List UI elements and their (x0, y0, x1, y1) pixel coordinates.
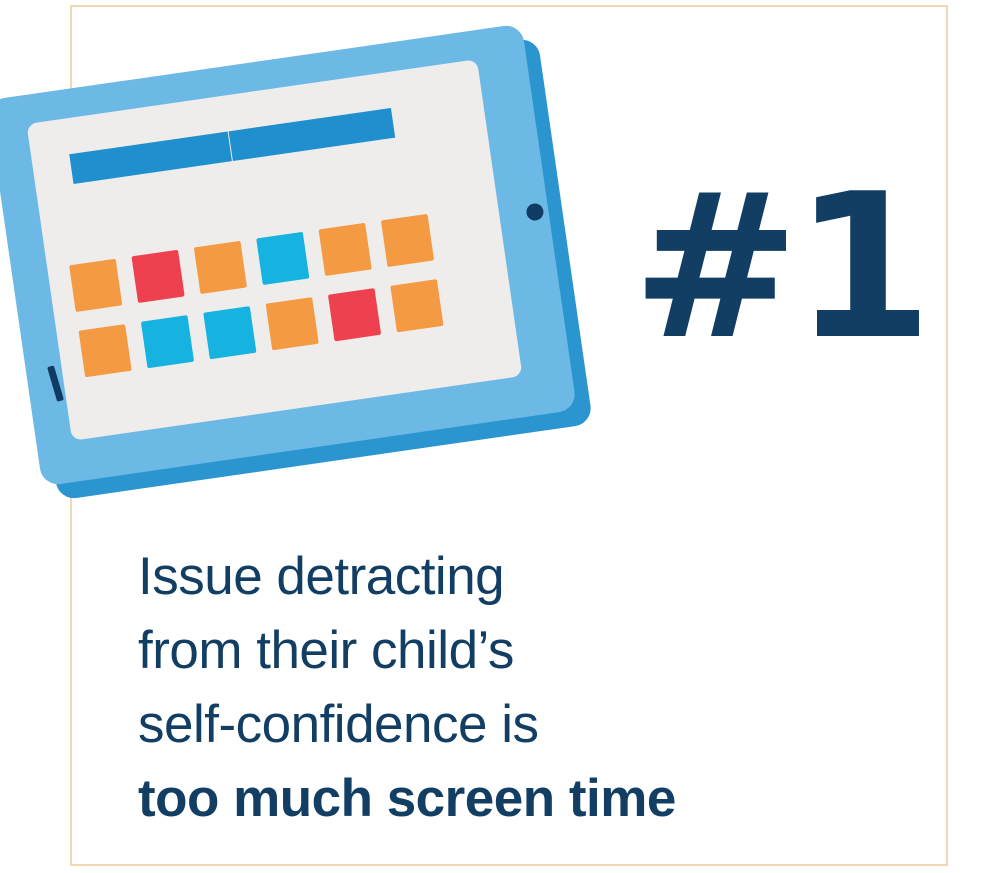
rank-number: #1 (632, 168, 927, 368)
app-tile[interactable] (203, 306, 256, 359)
app-tile[interactable] (141, 315, 194, 368)
tablet-screen (27, 59, 523, 441)
app-tile[interactable] (381, 214, 434, 267)
caption-line-emphasis: too much screen time (138, 762, 838, 836)
app-tile[interactable] (194, 241, 247, 294)
caption-text: Issue detracting from their child’s self… (138, 540, 838, 836)
app-tile[interactable] (319, 223, 372, 276)
screen-content (27, 59, 523, 441)
caption-line: self-confidence is (138, 688, 838, 762)
caption-line: Issue detracting (138, 540, 838, 614)
app-tile[interactable] (266, 297, 319, 350)
app-tile[interactable] (328, 288, 381, 341)
screen-banner-segment-right (229, 108, 396, 161)
tablet-camera-icon (525, 202, 544, 221)
tablet-illustration (0, 52, 600, 482)
screen-banner-segment-left (69, 131, 232, 184)
app-tile[interactable] (256, 232, 309, 285)
app-tile[interactable] (131, 250, 184, 303)
app-tile[interactable] (69, 259, 122, 312)
caption-line: from their child’s (138, 614, 838, 688)
app-tile[interactable] (390, 279, 443, 332)
app-tile[interactable] (79, 324, 132, 377)
infographic-card: #1 Issue detracting from their child’s s… (0, 0, 1000, 873)
